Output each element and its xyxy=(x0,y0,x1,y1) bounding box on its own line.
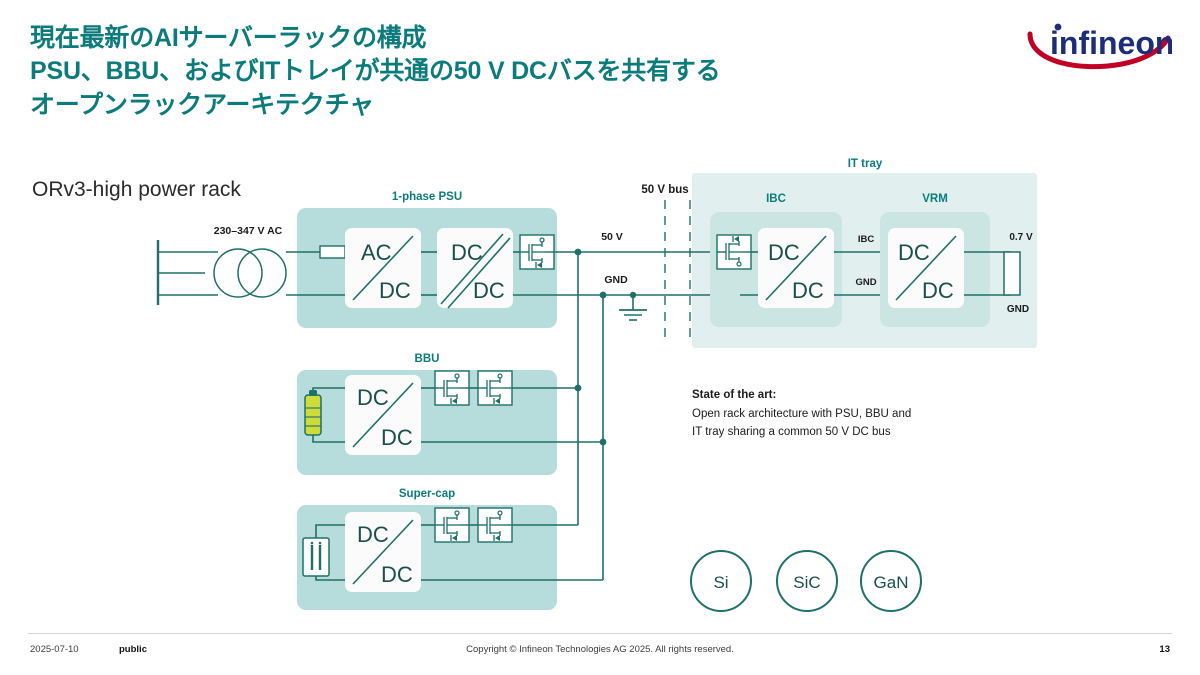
psu-block xyxy=(297,208,557,328)
psu-dcdc-converter: DC DC xyxy=(437,228,513,308)
title-line-3: オープンラックアーキテクチャ xyxy=(30,89,890,122)
load-resistor xyxy=(1004,252,1020,295)
vrm-out-voltage-label: 0.7 V xyxy=(1009,232,1033,243)
infineon-logo: infineon xyxy=(1022,14,1172,70)
power-architecture-diagram: ORv3-high power rack IT tray 1-phase PSU… xyxy=(0,140,1200,640)
technology-label-gan: GaN xyxy=(874,573,909,592)
technology-badge-sic: SiC xyxy=(777,551,837,611)
bus-gnd-label: GND xyxy=(604,274,628,286)
title-line-1: 現在最新のAIサーバーラックの構成 xyxy=(30,22,890,55)
vrm-out-gnd-label: GND xyxy=(1007,304,1029,315)
ibc-out-gnd-label: GND xyxy=(855,277,876,288)
supercap-mosfet-switch-1 xyxy=(435,508,469,542)
ground-symbol xyxy=(619,292,647,320)
slide: 現在最新のAIサーバーラックの構成 PSU、BBU、およびITトレイが共通の50… xyxy=(0,0,1200,675)
vrm-label: VRM xyxy=(922,193,948,205)
ibc-mosfet-switch xyxy=(717,235,751,269)
psu-acdc-top-label: AC xyxy=(361,240,392,265)
junction-dot-bbu-gnd xyxy=(600,439,607,446)
psu-dcdc-top-label: DC xyxy=(451,240,483,265)
supercap-conv-top-label: DC xyxy=(357,522,389,547)
psu-acdc-bottom-label: DC xyxy=(379,278,411,303)
junction-dot-bbu-50v xyxy=(575,385,582,392)
logo-dot xyxy=(1055,24,1062,31)
vrm-converter: DC DC xyxy=(888,228,964,308)
fuse-symbol xyxy=(320,246,345,258)
psu-mosfet-switch xyxy=(520,235,554,269)
logo-wordmark: infineon xyxy=(1050,25,1172,61)
ibc-out-label: IBC xyxy=(858,234,875,245)
supercap-mosfet-switch-2 xyxy=(478,508,512,542)
bbu-label: BBU xyxy=(415,353,440,365)
slide-footer: 2025-07-10 public Copyright © Infineon T… xyxy=(0,633,1200,675)
ibc-conv-bottom-label: DC xyxy=(792,278,824,303)
it-tray-label: IT tray xyxy=(848,158,883,170)
footer-divider xyxy=(28,633,1172,634)
vrm-conv-top-label: DC xyxy=(898,240,930,265)
ibc-label: IBC xyxy=(766,193,786,205)
rack-title: ORv3-high power rack xyxy=(32,178,241,201)
technology-label-si: Si xyxy=(713,573,728,592)
bbu-mosfet-switch-1 xyxy=(435,371,469,405)
page-title: 現在最新のAIサーバーラックの構成 PSU、BBU、およびITトレイが共通の50… xyxy=(30,22,890,122)
battery-symbol xyxy=(305,390,321,435)
psu-label: 1-phase PSU xyxy=(392,191,462,203)
ibc-converter: DC DC xyxy=(758,228,834,308)
bbu-conv-top-label: DC xyxy=(357,385,389,410)
technology-badge-gan: GaN xyxy=(861,551,921,611)
bus-50v-label: 50 V xyxy=(601,231,623,243)
note-line-2: IT tray sharing a common 50 V DC bus xyxy=(692,426,891,438)
supercap-symbol xyxy=(303,538,329,576)
bbu-dcdc-converter: DC DC xyxy=(345,375,421,455)
supercap-label: Super-cap xyxy=(399,488,455,500)
note-heading: State of the art: xyxy=(692,389,776,401)
ac-input-label: 230–347 V AC xyxy=(214,225,283,237)
footer-page-number: 13 xyxy=(1159,644,1170,655)
technology-badge-si: Si xyxy=(691,551,751,611)
psu-acdc-converter: AC DC xyxy=(345,228,421,308)
bbu-mosfet-switch-2 xyxy=(478,371,512,405)
supercap-block xyxy=(297,505,557,610)
bbu-block xyxy=(297,370,557,475)
note-line-1: Open rack architecture with PSU, BBU and xyxy=(692,408,911,420)
title-line-2: PSU、BBU、およびITトレイが共通の50 V DCバスを共有する xyxy=(30,55,890,88)
technology-label-sic: SiC xyxy=(793,573,820,592)
supercap-conv-bottom-label: DC xyxy=(381,562,413,587)
vrm-conv-bottom-label: DC xyxy=(922,278,954,303)
bbu-conv-bottom-label: DC xyxy=(381,425,413,450)
ibc-conv-top-label: DC xyxy=(768,240,800,265)
bus-title-label: 50 V bus xyxy=(641,184,688,196)
supercap-dcdc-converter: DC DC xyxy=(345,512,421,592)
footer-copyright: Copyright © Infineon Technologies AG 202… xyxy=(0,644,1200,655)
psu-dcdc-bottom-label: DC xyxy=(473,278,505,303)
